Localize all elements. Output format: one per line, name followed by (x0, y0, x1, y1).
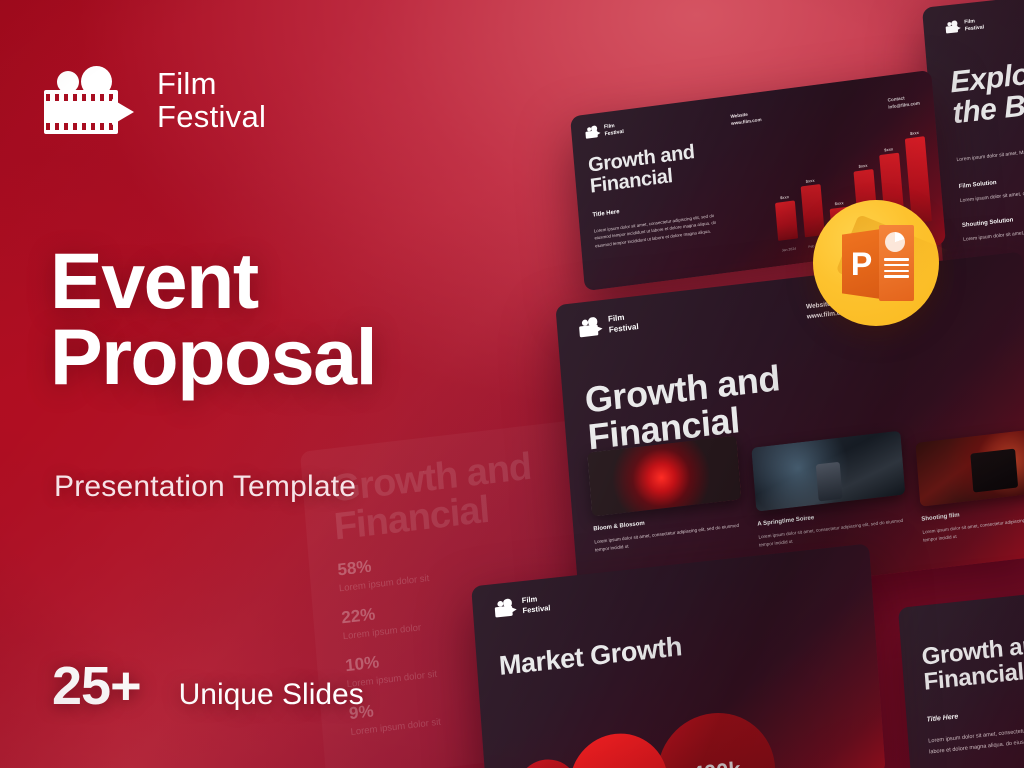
slide-brand-logo: Film Festival (945, 0, 1024, 35)
bar-value-label: $xxx (835, 200, 844, 206)
pie-chart-icon (885, 232, 905, 252)
bar (775, 201, 798, 241)
text-lines-icon (884, 258, 909, 281)
slide-growth-financial-text[interactable]: Growth and Financial Title Here Lorem ip… (898, 577, 1024, 768)
section-body-text: Lorem ipsum dolor sit amet, consectetur … (594, 211, 727, 250)
powerpoint-icon: P (813, 200, 939, 326)
bar-column: $xxx (770, 147, 798, 241)
bar-value-label: $xxx (858, 163, 867, 169)
brand-line-2: Festival (965, 24, 985, 33)
poster-stage: Growth and Financial 58% Lorem ipsum dol… (0, 0, 1024, 768)
film-camera-icon (44, 66, 140, 134)
bubble-chart: 200k 300k 400k (512, 707, 779, 768)
brand-line-2: Festival (157, 100, 266, 133)
bubble-200k: 200k (514, 756, 580, 768)
bubble-300k: 300k (567, 729, 672, 768)
bar-value-label: $xxx (910, 130, 919, 136)
x-tick-label: Jan 2024 (779, 246, 799, 253)
powerpoint-letter: P (842, 229, 881, 299)
page-title: Event Proposal (50, 243, 376, 395)
slide-title: Market Growth (498, 615, 854, 681)
slide-intro-text: Lorem ipsum dolor sit amet. Maecenas por… (956, 139, 1024, 165)
slide-brand-text: Film Festival (604, 122, 624, 137)
bar-column: $xxx (797, 143, 825, 237)
slide-meta-website: Website www.film.com (730, 110, 762, 128)
brand-name: Film Festival (157, 67, 266, 134)
content-card[interactable]: A Springtime Soiree Lorem ipsum dolor si… (751, 431, 908, 550)
slide-title: Explore the Best (949, 42, 1024, 130)
bar-value-label: $xxx (884, 147, 893, 153)
bar-value-label: $xxx (780, 194, 789, 200)
slide-title: Growth and Financial (921, 619, 1024, 695)
page-title-line2: Proposal (50, 319, 376, 395)
page-subtitle: Presentation Template (54, 470, 356, 504)
section-heading-title-here: Title Here (926, 690, 1024, 724)
slide-count-stat: 25+ Unique Slides (52, 655, 364, 717)
slide-meta-contact: Contact info@film.com (887, 94, 920, 112)
film-camera-icon (579, 318, 603, 338)
slide-count-label: Unique Slides (179, 678, 364, 712)
content-card[interactable]: Bloom & Blossom Lorem ipsum dolor sit am… (587, 435, 744, 554)
page-title-line1: Event (50, 243, 376, 319)
slide-brand-text: Film Festival (608, 312, 639, 336)
film-camera-icon (945, 21, 961, 34)
bubble-400k: 400k (653, 707, 779, 768)
slide-brand-text: Film Festival (522, 594, 551, 616)
card-thumbnail-image (915, 426, 1024, 507)
film-camera-icon (494, 599, 517, 617)
bar-value-label: $xxx (806, 178, 815, 184)
slide-brand-text: Film Festival (964, 17, 984, 32)
film-camera-icon (585, 126, 601, 139)
slide-count-number: 25+ (52, 655, 141, 717)
content-card[interactable]: Shooting film Lorem ipsum dolor sit amet… (915, 426, 1024, 545)
card-thumbnail-image (751, 431, 905, 512)
brand-line-1: Film (157, 67, 266, 100)
brand-logo: Film Festival (44, 66, 266, 134)
